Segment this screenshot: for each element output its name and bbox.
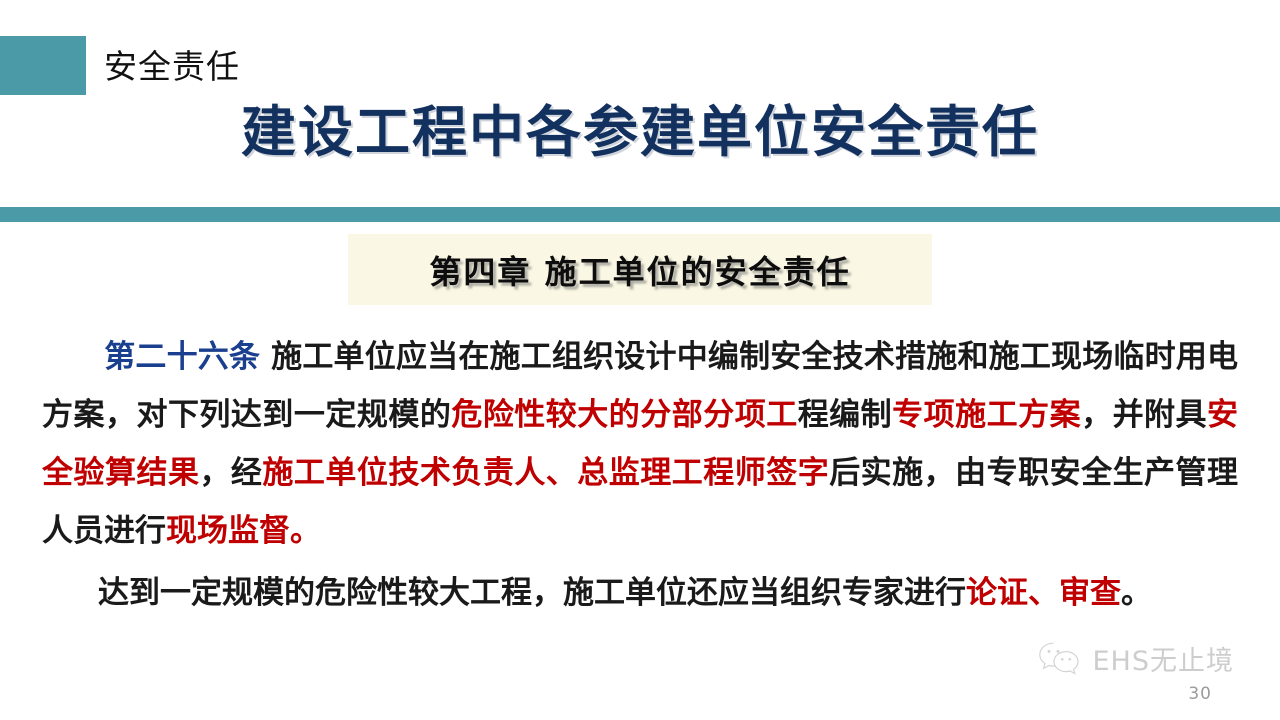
segment-text-highlight: 施工单位技术负责人、总监理工程师签字 [262,455,829,491]
segment-text: 。 [1121,575,1152,611]
paragraph-expert-review: 达到一定规模的危险性较大工程，施工单位还应当组织专家进行论证、审查。 [42,564,1238,622]
slide: 安全责任 建设工程中各参建单位安全责任 第四章 施工单位的安全责任 第二十六条 … [0,0,1280,720]
segment-text: 达到一定规模的危险性较大工程，施工单位还应当组织专家进行 [98,575,966,611]
segment-text-highlight: 现场监督。 [166,513,321,549]
footer-watermark-label: EHS无止境 [1092,639,1234,678]
article-label: 第二十六条 [104,339,260,375]
chapter-banner: 第四章 施工单位的安全责任 [348,234,932,305]
paragraph-article-26: 第二十六条 施工单位应当在施工组织设计中编制安全技术措施和施工现场临时用电方案，… [42,328,1238,560]
wechat-icon [1037,640,1083,678]
footer-watermark: EHS无止境 [1037,639,1234,678]
segment-text-highlight: 专项施工方案 [892,397,1081,433]
slide-title: 建设工程中各参建单位安全责任 [0,104,1280,162]
segment-text: ，经 [199,455,262,491]
segment-text: ，并附具 [1081,397,1207,433]
slide-kicker: 安全责任 [104,36,704,96]
article-label-gap [260,339,271,375]
body-copy: 第二十六条 施工单位应当在施工组织设计中编制安全技术措施和施工现场临时用电方案，… [42,328,1238,622]
segment-text-highlight: 论证、审查 [966,575,1121,611]
chapter-banner-label: 第四章 施工单位的安全责任 [429,247,850,293]
header-accent-block [0,36,86,95]
page-number: 30 [1188,684,1212,704]
header-divider-rule [0,207,1280,222]
segment-text-highlight: 危险性较大的分部分项工 [451,397,797,433]
segment-text: 程编制 [798,397,892,433]
